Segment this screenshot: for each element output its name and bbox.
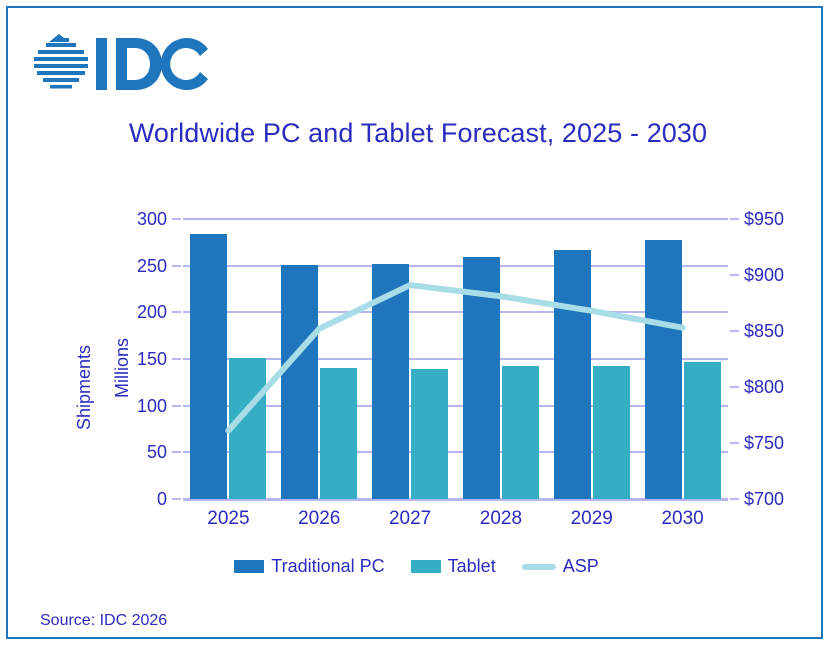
x-axis-label-2026: 2026: [298, 508, 340, 530]
y-axis-tick: [172, 451, 181, 453]
legend-item-tablet[interactable]: Tablet: [411, 556, 496, 577]
y-axis-tick-label: 0: [157, 489, 167, 510]
y2-axis-tick: [730, 386, 739, 388]
legend-swatch-icon: [522, 564, 556, 570]
legend-item-traditional-pc[interactable]: Traditional PC: [234, 556, 384, 577]
y-axis-title-shipments: Shipments: [74, 345, 95, 430]
x-axis-label-2030: 2030: [661, 508, 703, 530]
legend-swatch-icon: [234, 560, 264, 573]
y2-axis-tick-label: $700: [744, 489, 784, 510]
y2-axis-tick: [730, 218, 739, 220]
y2-axis-tick: [730, 274, 739, 276]
x-axis-label-2029: 2029: [571, 508, 613, 530]
y-axis-tick: [172, 405, 181, 407]
y-axis-tick: [172, 265, 181, 267]
y-axis-tick-label: 300: [137, 209, 167, 230]
y2-axis-tick: [730, 442, 739, 444]
y-axis-tick-label: 50: [147, 442, 167, 463]
asp-line-series: [183, 219, 728, 499]
legend-label: Traditional PC: [271, 556, 384, 577]
y2-axis-tick: [730, 498, 739, 500]
y2-axis-tick-label: $800: [744, 377, 784, 398]
y2-axis-tick: [730, 330, 739, 332]
x-axis-label-2027: 2027: [389, 508, 431, 530]
idc-logo: [32, 32, 212, 94]
legend-item-asp[interactable]: ASP: [522, 556, 599, 577]
page-title: Worldwide PC and Tablet Forecast, 2025 -…: [118, 112, 718, 154]
y-axis-tick-label: 200: [137, 302, 167, 323]
x-axis-baseline: [183, 499, 728, 501]
chart-frame: Worldwide PC and Tablet Forecast, 2025 -…: [6, 6, 823, 639]
y2-axis-tick-label: $950: [744, 209, 784, 230]
legend-label: ASP: [563, 556, 599, 577]
source-note: Source: IDC 2026: [40, 612, 167, 630]
x-axis-label-2025: 2025: [207, 508, 249, 530]
y-axis-tick: [172, 358, 181, 360]
y-axis-tick: [172, 311, 181, 313]
y-axis-title-millions: Millions: [112, 338, 133, 398]
y-axis-tick-label: 250: [137, 256, 167, 277]
plot-area: 300250200150100500$950$900$850$800$750$7…: [183, 219, 728, 499]
y-axis-tick: [172, 218, 181, 220]
chart-legend: Traditional PCTabletASP: [8, 556, 825, 577]
x-axis-labels: 202520262027202820292030: [183, 508, 728, 538]
y-axis-tick-label: 150: [137, 349, 167, 370]
y-axis-tick: [172, 498, 181, 500]
y2-axis-tick-label: $850: [744, 321, 784, 342]
x-axis-label-2028: 2028: [480, 508, 522, 530]
y2-axis-tick-label: $900: [744, 265, 784, 286]
y-axis-tick-label: 100: [137, 396, 167, 417]
legend-swatch-icon: [411, 560, 441, 573]
y2-axis-tick-label: $750: [744, 433, 784, 454]
legend-label: Tablet: [448, 556, 496, 577]
